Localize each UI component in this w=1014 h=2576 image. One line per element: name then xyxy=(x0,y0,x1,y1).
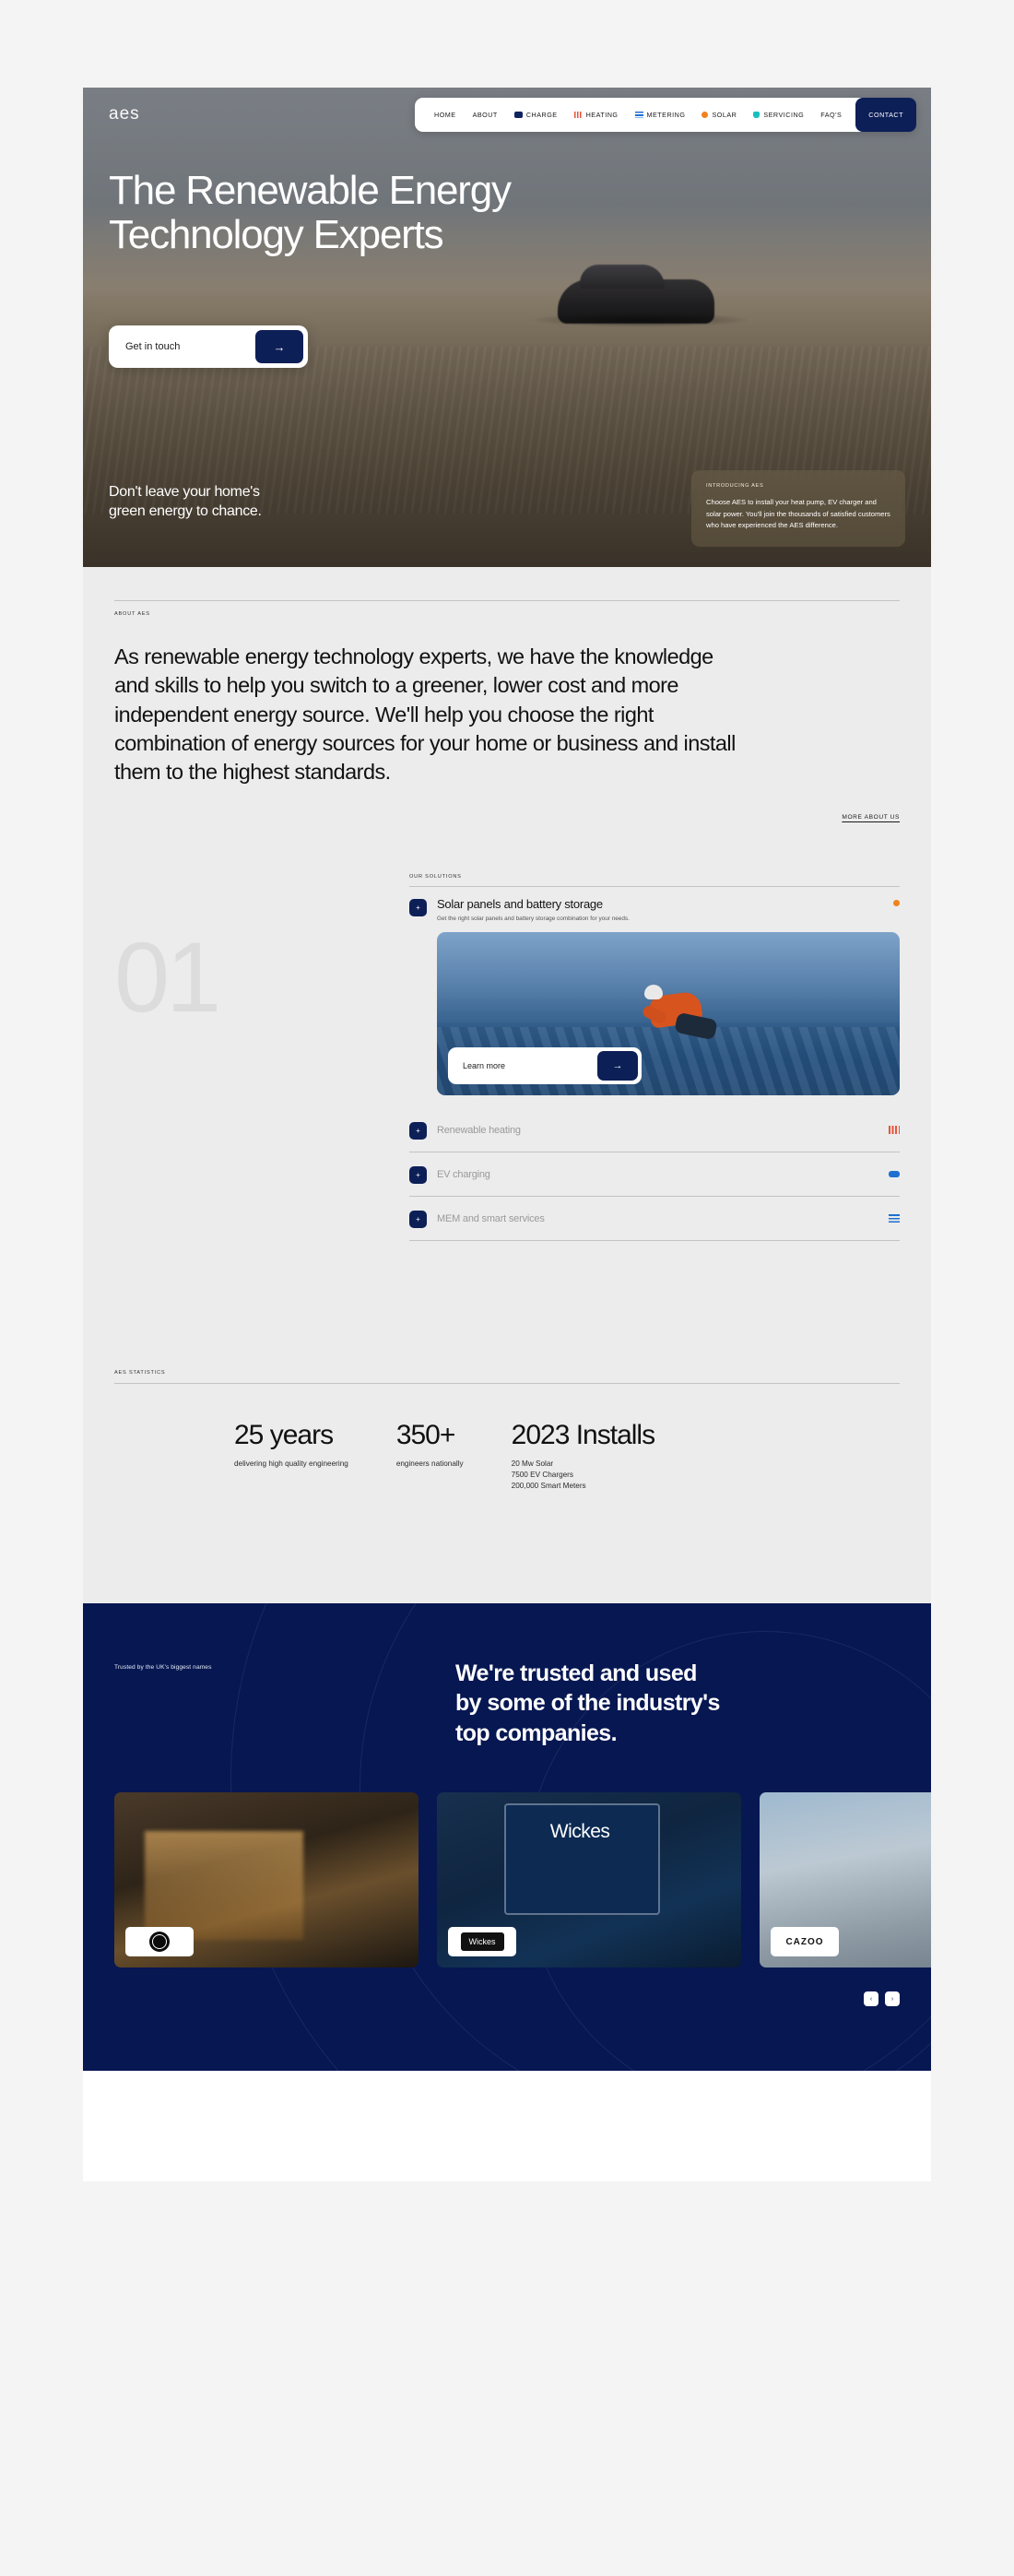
more-about-us-link[interactable]: MORE ABOUT US xyxy=(842,814,900,821)
trusted-kicker: Trusted by the UK's biggest names xyxy=(114,1659,455,1749)
solutions-bottom-divider xyxy=(409,1240,900,1241)
charge-icon xyxy=(514,112,523,118)
about-kicker: ABOUT AES xyxy=(114,601,900,617)
footer-spacer xyxy=(83,2071,931,2181)
servicing-icon xyxy=(753,112,760,118)
main-navigation: aes HOME ABOUT CHARGE HEATING xyxy=(83,88,931,141)
metering-icon xyxy=(635,112,643,118)
client-logo-chip: CAZOO xyxy=(771,1927,839,1956)
expand-icon[interactable]: + xyxy=(409,899,427,916)
hero-subtext: Don't leave your home's green energy to … xyxy=(109,483,262,521)
ev-icon xyxy=(889,1171,900,1177)
solutions-kicker: OUR SOLUTIONS xyxy=(409,874,900,880)
heating-icon xyxy=(889,1126,900,1134)
nav-item-faqs[interactable]: FAQ'S xyxy=(812,98,850,132)
stat-block-installs: 2023 Installs 20 Mw Solar 7500 EV Charge… xyxy=(512,1421,654,1492)
client-card-cazoo[interactable]: CAZOO xyxy=(760,1792,931,1967)
intro-card-body: Choose AES to install your heat pump, EV… xyxy=(706,497,890,532)
starbucks-logo-icon xyxy=(149,1932,170,1952)
nav-item-charge[interactable]: CHARGE xyxy=(506,98,566,132)
nav-item-solar[interactable]: SOLAR xyxy=(693,98,745,132)
solution-item-solar[interactable]: + Solar panels and battery storage Get t… xyxy=(409,887,900,1095)
nav-item-heating[interactable]: HEATING xyxy=(566,98,627,132)
stats-kicker: AES STATISTICS xyxy=(114,1370,900,1383)
more-about-wrapper: MORE ABOUT US xyxy=(114,807,900,823)
trusted-section: Trusted by the UK's biggest names We're … xyxy=(83,1603,931,2072)
client-logo-chip: Wickes xyxy=(448,1927,516,1956)
expand-icon[interactable]: + xyxy=(409,1211,427,1228)
solution-description: Get the right solar panels and battery s… xyxy=(437,916,630,922)
client-logo-chip xyxy=(125,1927,194,1956)
stat-caption: engineers nationally xyxy=(396,1459,464,1470)
nav-item-home[interactable]: HOME xyxy=(426,98,465,132)
trusted-title: We're trusted and used by some of the in… xyxy=(455,1659,720,1749)
nav-label: HOME xyxy=(434,111,456,119)
nav-label: ABOUT xyxy=(473,111,498,119)
solutions-section: 01 OUR SOLUTIONS + Solar panels and batt… xyxy=(83,823,931,1241)
nav-item-about[interactable]: ABOUT xyxy=(465,98,506,132)
carousel-next-icon[interactable]: › xyxy=(885,1991,900,2006)
get-in-touch-button[interactable]: Get in touch → xyxy=(109,325,308,368)
hero-sub-line-2: green energy to chance. xyxy=(109,503,262,519)
about-paragraph: As renewable energy technology experts, … xyxy=(114,643,750,786)
nav-label: FAQ'S xyxy=(820,111,842,119)
carousel-controls: ‹ › xyxy=(114,1991,900,2006)
solution-item-mem[interactable]: + MEM and smart services xyxy=(409,1196,900,1240)
nav-label: METERING xyxy=(647,111,686,119)
website-page: aes HOME ABOUT CHARGE HEATING xyxy=(83,88,931,2181)
site-logo[interactable]: aes xyxy=(109,104,140,124)
metering-icon xyxy=(889,1214,900,1223)
trusted-title-line-1: We're trusted and used xyxy=(455,1660,697,1686)
solutions-step-number: 01 xyxy=(114,874,391,1241)
carousel-prev-icon[interactable]: ‹ xyxy=(864,1991,878,2006)
cazoo-logo-icon: CAZOO xyxy=(785,1937,823,1947)
trusted-title-line-2: by some of the industry's xyxy=(455,1690,720,1716)
nav-label: SERVICING xyxy=(763,111,804,119)
solution-item-ev-charging[interactable]: + EV charging xyxy=(409,1152,900,1196)
stat-number: 25 years xyxy=(234,1421,348,1450)
stat-caption: delivering high quality engineering xyxy=(234,1459,348,1470)
about-section: ABOUT AES As renewable energy technology… xyxy=(83,567,931,823)
trusted-header: Trusted by the UK's biggest names We're … xyxy=(114,1659,900,1749)
cta-label: Get in touch xyxy=(113,341,255,352)
wickes-logo-icon: Wickes xyxy=(461,1932,504,1951)
engineer-figure xyxy=(641,981,720,1049)
stat-block-years: 25 years delivering high quality enginee… xyxy=(234,1421,348,1470)
hero-title-line-1: The Renewable Energy xyxy=(109,168,511,213)
hero-title-line-2: Technology Experts xyxy=(109,212,442,257)
solar-icon xyxy=(702,112,708,118)
intro-card: INTRODUCING AES Choose AES to install yo… xyxy=(691,470,905,547)
nav-label: HEATING xyxy=(586,111,619,119)
solution-header: + Solar panels and battery storage Get t… xyxy=(409,897,900,922)
stat-block-engineers: 350+ engineers nationally xyxy=(396,1421,464,1470)
nav-item-servicing[interactable]: SERVICING xyxy=(745,98,812,132)
hero-sub-line-1: Don't leave your home's xyxy=(109,484,260,500)
nav-item-metering[interactable]: METERING xyxy=(627,98,694,132)
nav-links-pill: HOME ABOUT CHARGE HEATING METERING xyxy=(415,98,916,132)
hero-car-image xyxy=(558,279,714,324)
hero-section: aes HOME ABOUT CHARGE HEATING xyxy=(83,88,931,567)
hero-title: The Renewable Energy Technology Experts xyxy=(109,169,511,257)
learn-more-button[interactable]: Learn more → xyxy=(448,1047,642,1084)
solutions-accordion: + Renewable heating + EV charging + MEM … xyxy=(409,1108,900,1241)
expand-icon[interactable]: + xyxy=(409,1122,427,1140)
heating-icon xyxy=(574,112,583,118)
solution-item-heating[interactable]: + Renewable heating xyxy=(409,1108,900,1152)
solution-image: Learn more → xyxy=(437,932,900,1095)
learn-more-label: Learn more xyxy=(452,1061,597,1070)
contact-button[interactable]: CONTACT xyxy=(855,98,916,132)
solution-title: Solar panels and battery storage xyxy=(437,897,630,911)
solution-label: MEM and smart services xyxy=(437,1213,545,1224)
client-card-starbucks[interactable] xyxy=(114,1792,419,1967)
solution-label: Renewable heating xyxy=(437,1125,521,1136)
stat-caption: 20 Mw Solar 7500 EV Chargers 200,000 Sma… xyxy=(512,1459,654,1493)
solution-label: EV charging xyxy=(437,1169,490,1180)
client-card-wickes[interactable]: Wickes xyxy=(437,1792,741,1967)
stat-number: 350+ xyxy=(396,1421,464,1450)
arrow-right-icon[interactable]: → xyxy=(255,330,303,363)
stat-number: 2023 Installs xyxy=(512,1421,654,1450)
nav-label: CHARGE xyxy=(526,111,558,119)
trusted-title-line-3: top companies. xyxy=(455,1720,617,1746)
arrow-right-icon[interactable]: → xyxy=(597,1051,638,1081)
client-cards: Wickes CAZOO xyxy=(114,1792,900,1967)
expand-icon[interactable]: + xyxy=(409,1166,427,1184)
solutions-list: OUR SOLUTIONS + Solar panels and battery… xyxy=(409,874,900,1241)
stats-row: 25 years delivering high quality enginee… xyxy=(114,1384,900,1602)
intro-card-kicker: INTRODUCING AES xyxy=(706,483,890,489)
nav-label: SOLAR xyxy=(712,111,737,119)
statistics-section: AES STATISTICS 25 years delivering high … xyxy=(83,1370,931,1602)
